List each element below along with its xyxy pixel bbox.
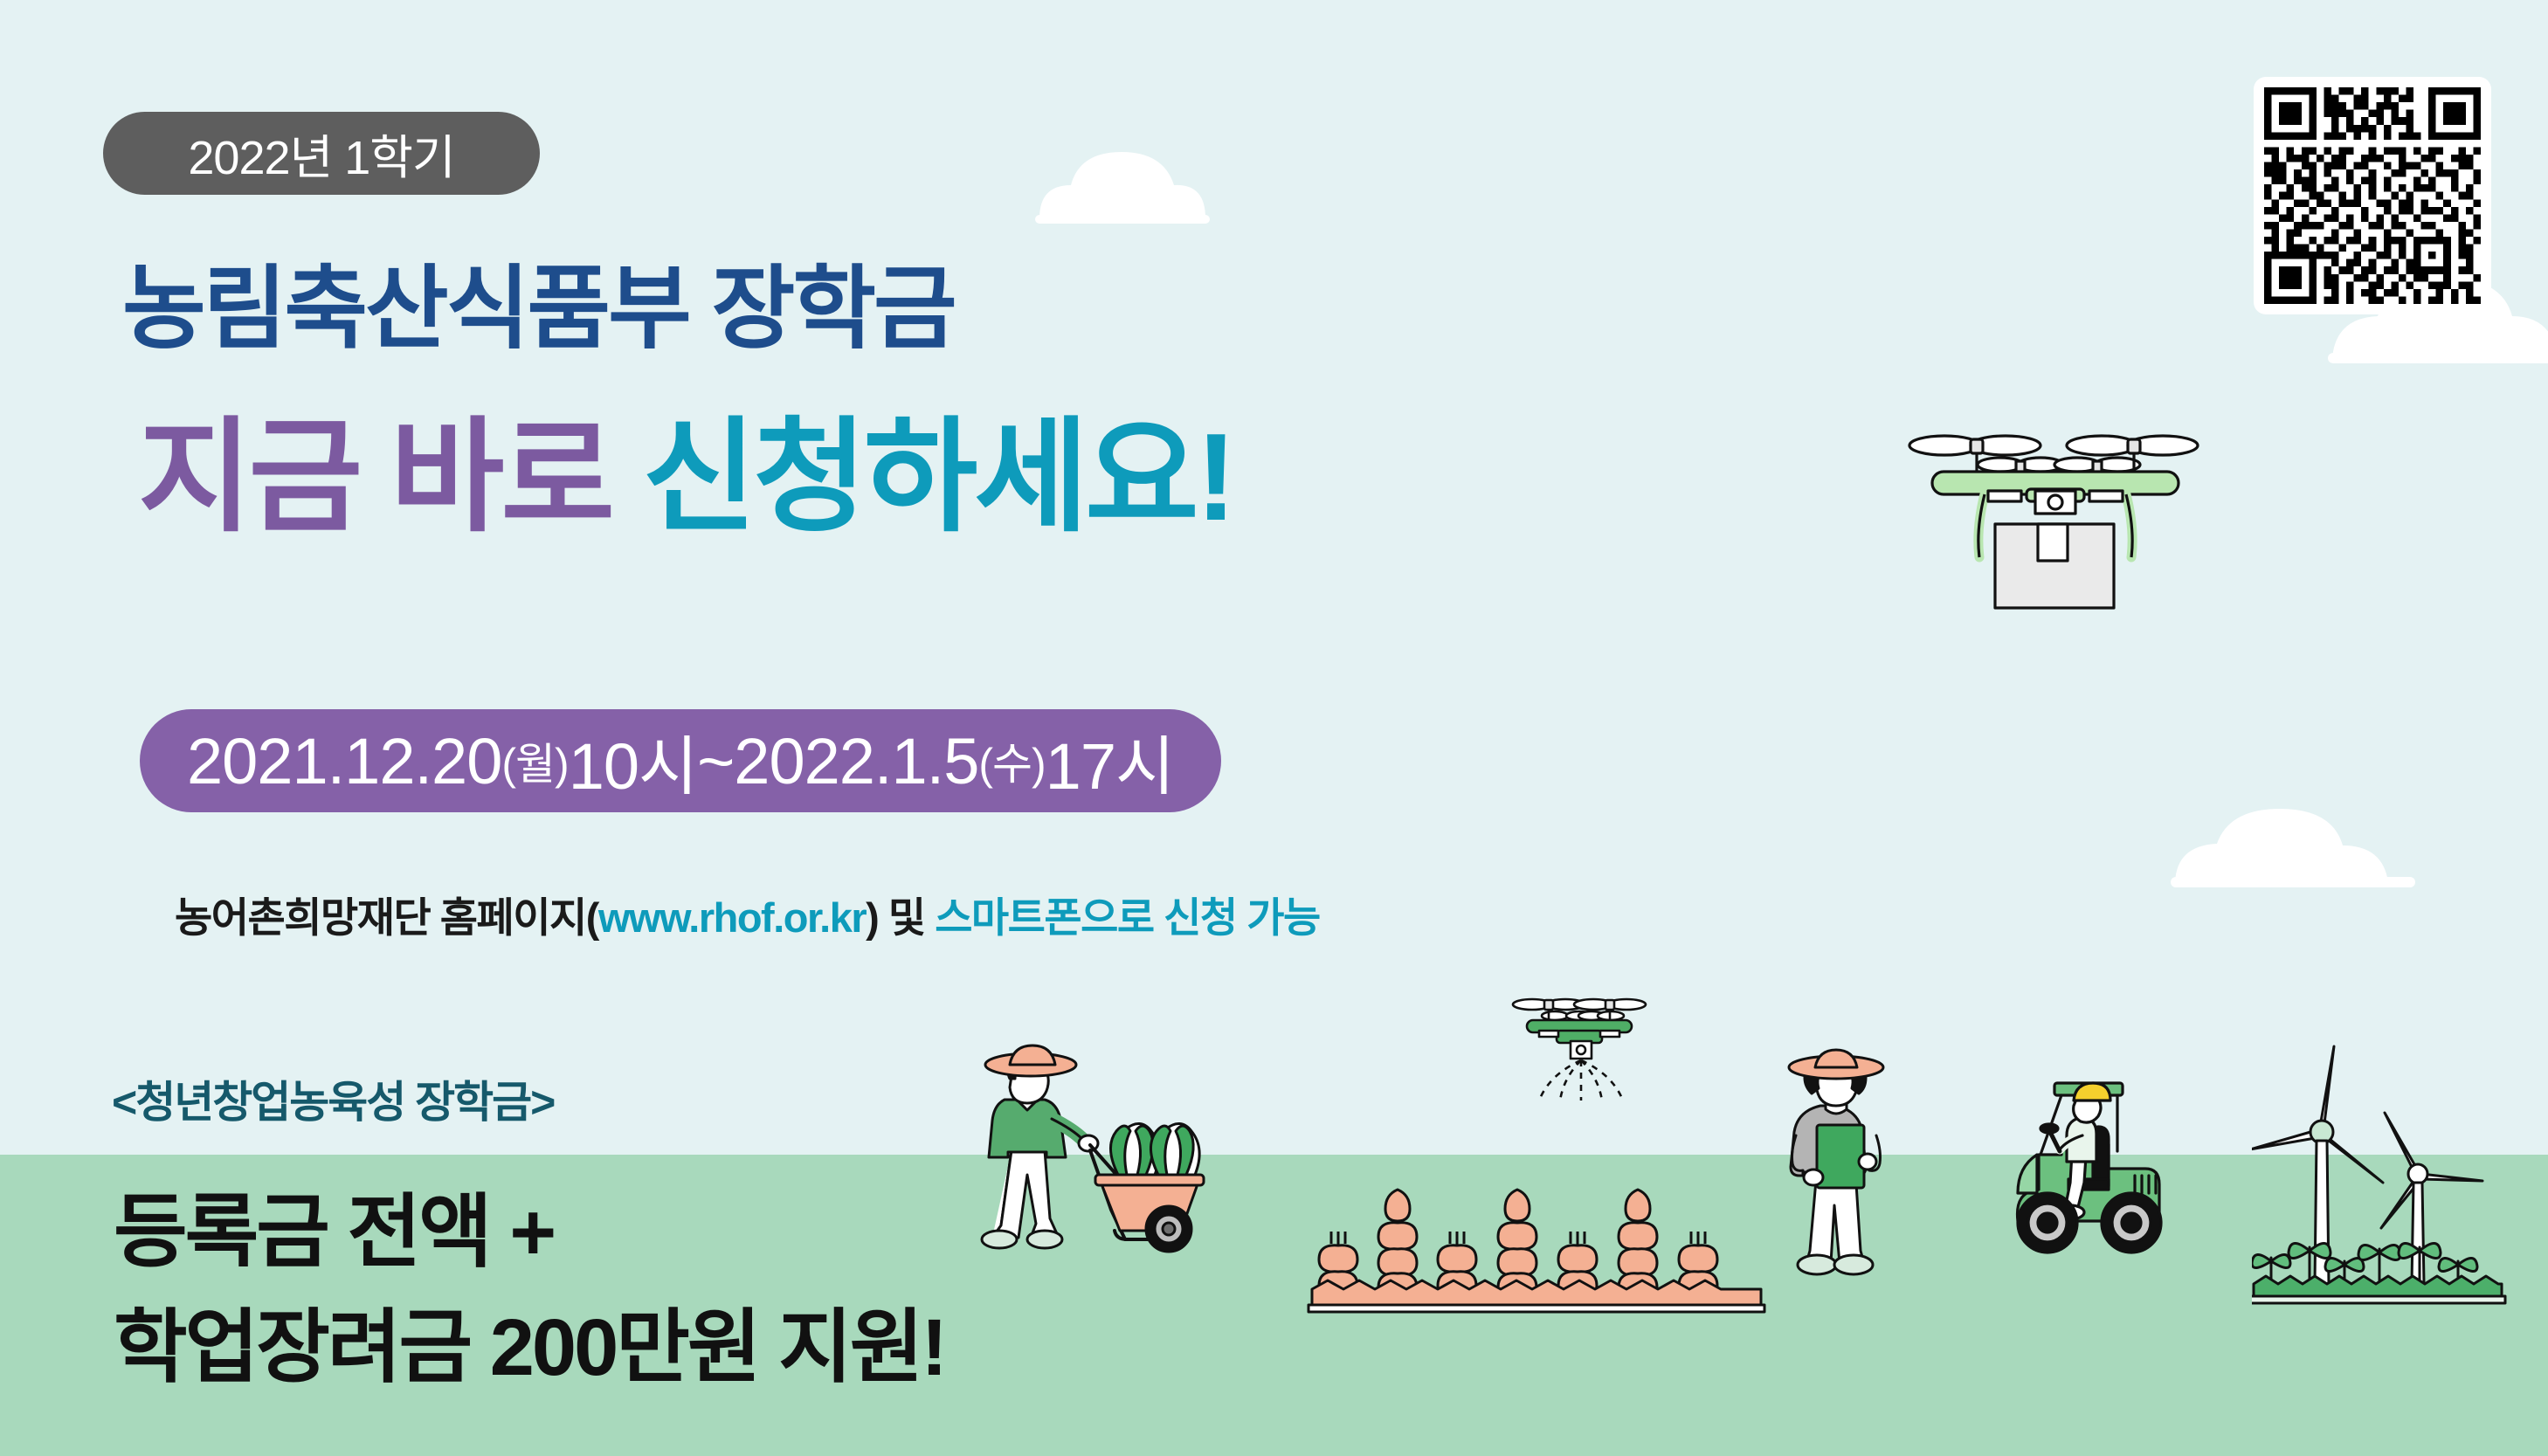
benefit-line-2: 학업장려금 200만원 지원! xyxy=(114,1282,945,1398)
page-title-text: 농림축산식품부 장학금 xyxy=(122,259,955,360)
period-start-day: (월) xyxy=(501,729,568,792)
channel-prefix: 농어촌희망재단 홈페이지( xyxy=(175,894,598,941)
qr-code[interactable] xyxy=(2254,77,2491,314)
delivery-drone-illustration xyxy=(1878,411,2201,655)
page-subtitle: 지금 바로 신청하세요! xyxy=(138,376,1233,555)
page-subtitle-part-1: 지금 바로 xyxy=(138,408,642,547)
channel-suffix: 스마트폰으로 신청 가능 xyxy=(935,894,1320,941)
period-separator: ~ xyxy=(697,724,734,798)
benefit-line-1: 등록금 전액 + xyxy=(114,1167,554,1283)
farmer-tablet-illustration xyxy=(1780,1048,1964,1284)
channel-middle: ) 및 xyxy=(866,894,935,941)
wind-turbines-illustration xyxy=(2252,1032,2540,1312)
semester-badge-label: 2022년 1학기 xyxy=(188,119,454,188)
wheat-field-illustration xyxy=(1307,1177,1770,1317)
spraying-drone-illustration xyxy=(1501,987,1658,1118)
period-end-date: 2022.1.5 xyxy=(734,724,978,798)
page-title: 농림축산식품부 장학금 xyxy=(122,234,955,366)
promo-poster: 2022년 1학기 농림축산식품부 장학금 지금 바로 신청하세요! 2021.… xyxy=(0,0,2548,1456)
period-end-time: 17시 xyxy=(1046,714,1174,808)
period-end-day: (수) xyxy=(978,729,1045,792)
scholarship-type-label: <청년창업농육성 장학금> xyxy=(112,1067,554,1130)
page-subtitle-part-2: 신청하세요! xyxy=(642,408,1233,547)
cloud-mid-right xyxy=(2166,795,2446,891)
application-period-pill: 2021.12.20(월) 10시 ~ 2022.1.5(수) 17시 xyxy=(140,709,1221,812)
farmer-wheelbarrow-illustration xyxy=(961,1044,1249,1271)
semester-badge: 2022년 1학기 xyxy=(103,112,540,195)
period-start-time: 10시 xyxy=(569,714,697,808)
period-start-date: 2021.12.20 xyxy=(187,724,501,798)
green-tractor-illustration xyxy=(2011,1046,2229,1273)
foundation-website-url[interactable]: www.rhof.or.kr xyxy=(598,894,866,941)
cloud-top-left xyxy=(1031,131,1293,227)
application-channel-line: 농어촌희망재단 홈페이지(www.rhof.or.kr) 및 스마트폰으로 신청… xyxy=(175,884,1320,944)
